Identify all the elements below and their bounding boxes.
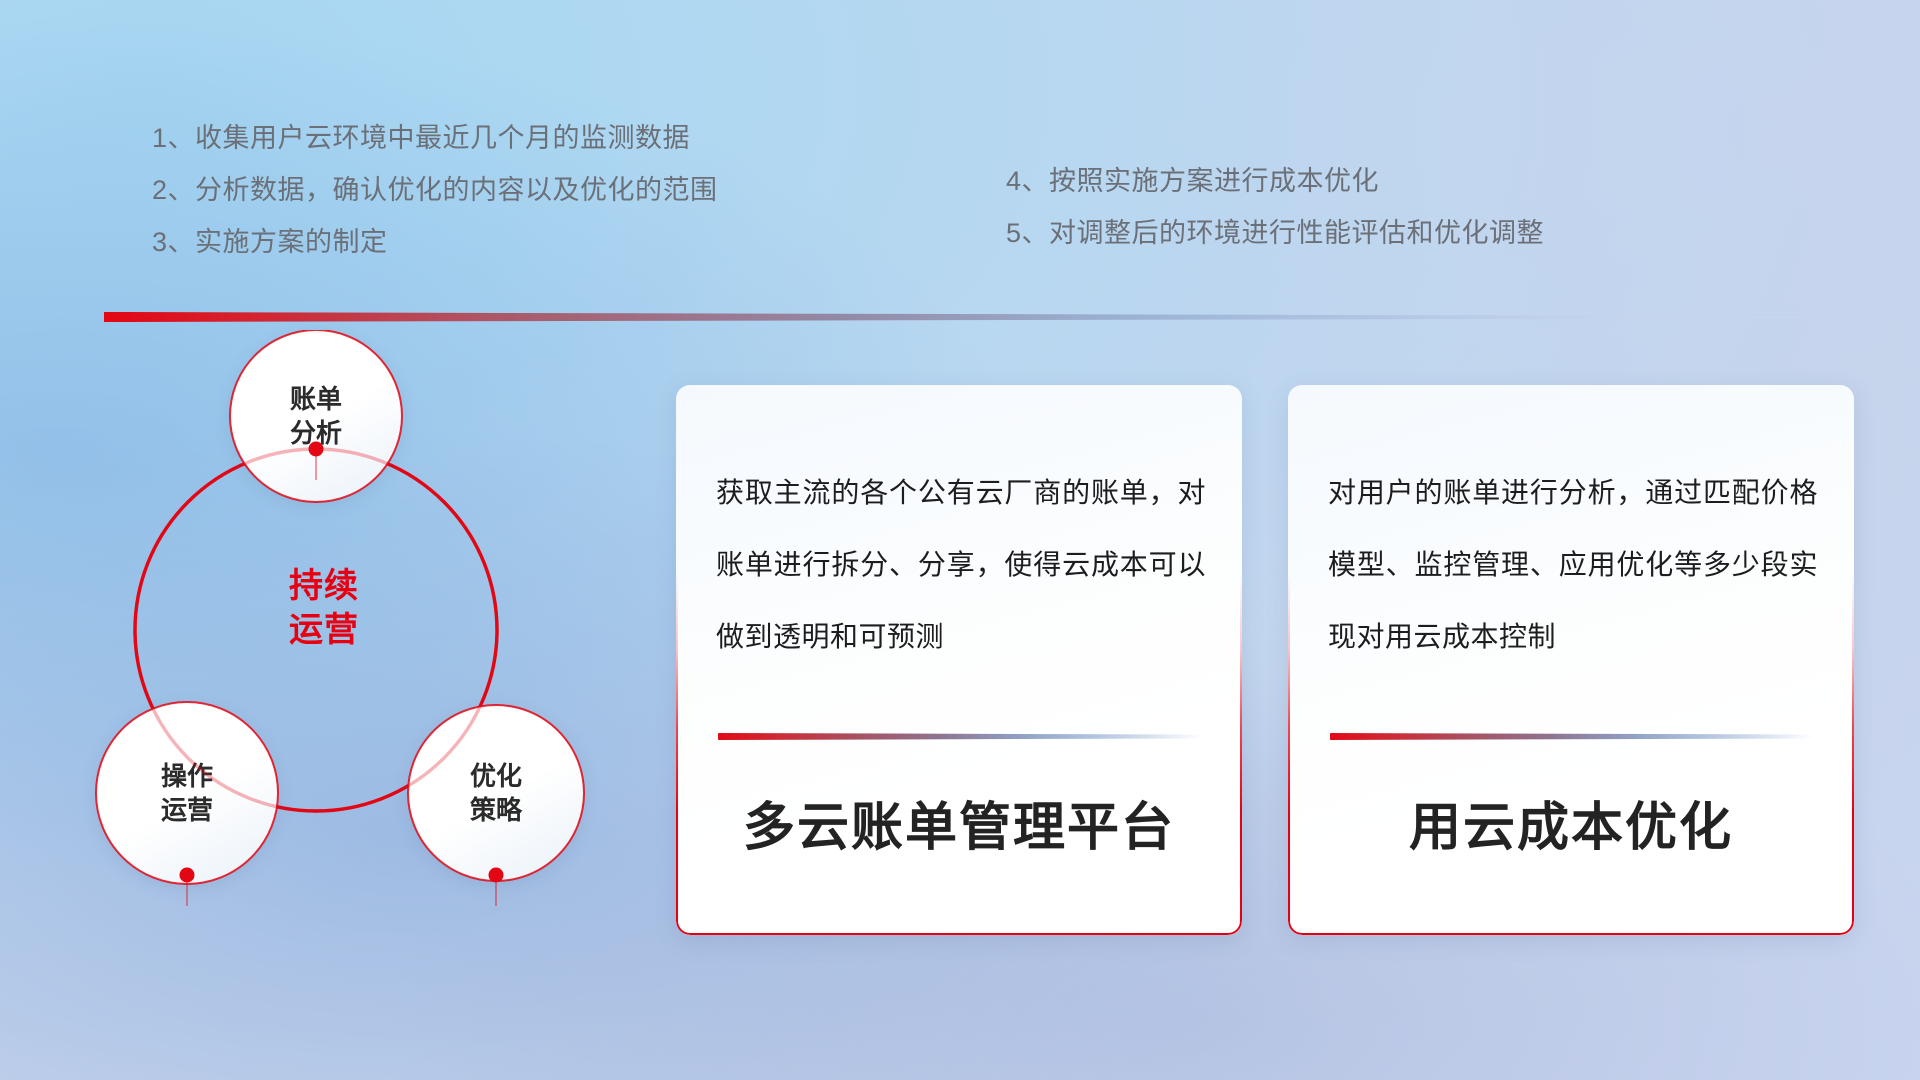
center-label-line2: 运营	[254, 608, 394, 652]
node-label-line1: 操作	[161, 759, 213, 793]
node-label-line1: 优化	[470, 759, 522, 793]
diagram-center-label: 持续 运营	[254, 564, 394, 652]
card-cloud-cost-optimization[interactable]: 对用户的账单进行分析，通过匹配价格模型、监控管理、应用优化等多少段实现对用云成本…	[1288, 385, 1854, 935]
node-label-line1: 账单	[290, 382, 342, 416]
node-label-line2: 策略	[470, 793, 522, 827]
card-divider	[718, 733, 1202, 740]
card-divider	[1330, 733, 1814, 740]
steps-left-column: 1、收集用户云环境中最近几个月的监测数据 2、分析数据，确认优化的内容以及优化的…	[152, 112, 718, 268]
node-label-line2: 运营	[161, 793, 213, 827]
card-title: 用云成本优化	[1288, 785, 1854, 860]
diagram-node-ops-operation[interactable]: 操作 运营	[96, 702, 278, 884]
node-label-line2: 分析	[290, 416, 342, 450]
card-title: 多云账单管理平台	[676, 785, 1242, 860]
card-body-text: 对用户的账单进行分析，通过匹配价格模型、监控管理、应用优化等多少段实现对用云成本…	[1328, 457, 1818, 673]
card-body-text: 获取主流的各个公有云厂商的账单，对账单进行拆分、分享，使得云成本可以做到透明和可…	[716, 457, 1206, 673]
step-item-5: 5、对调整后的环境进行性能评估和优化调整	[1006, 207, 1544, 259]
step-item-3: 3、实施方案的制定	[152, 216, 718, 268]
diagram-node-optimize-policy[interactable]: 优化 策略	[408, 705, 584, 881]
slide-canvas: 1、收集用户云环境中最近几个月的监测数据 2、分析数据，确认优化的内容以及优化的…	[0, 0, 1920, 1080]
center-label-line1: 持续	[254, 564, 394, 608]
section-divider	[104, 311, 1864, 323]
step-item-1: 1、收集用户云环境中最近几个月的监测数据	[152, 112, 718, 164]
continuous-operation-diagram: 账单 分析 操作 运营 优化 策略	[88, 330, 648, 960]
steps-right-column: 4、按照实施方案进行成本优化 5、对调整后的环境进行性能评估和优化调整	[1006, 155, 1544, 259]
step-item-2: 2、分析数据，确认优化的内容以及优化的范围	[152, 164, 718, 216]
step-item-4: 4、按照实施方案进行成本优化	[1006, 155, 1544, 207]
diagram-node-bill-analysis[interactable]: 账单 分析	[230, 330, 402, 502]
card-multi-cloud-billing-platform[interactable]: 获取主流的各个公有云厂商的账单，对账单进行拆分、分享，使得云成本可以做到透明和可…	[676, 385, 1242, 935]
